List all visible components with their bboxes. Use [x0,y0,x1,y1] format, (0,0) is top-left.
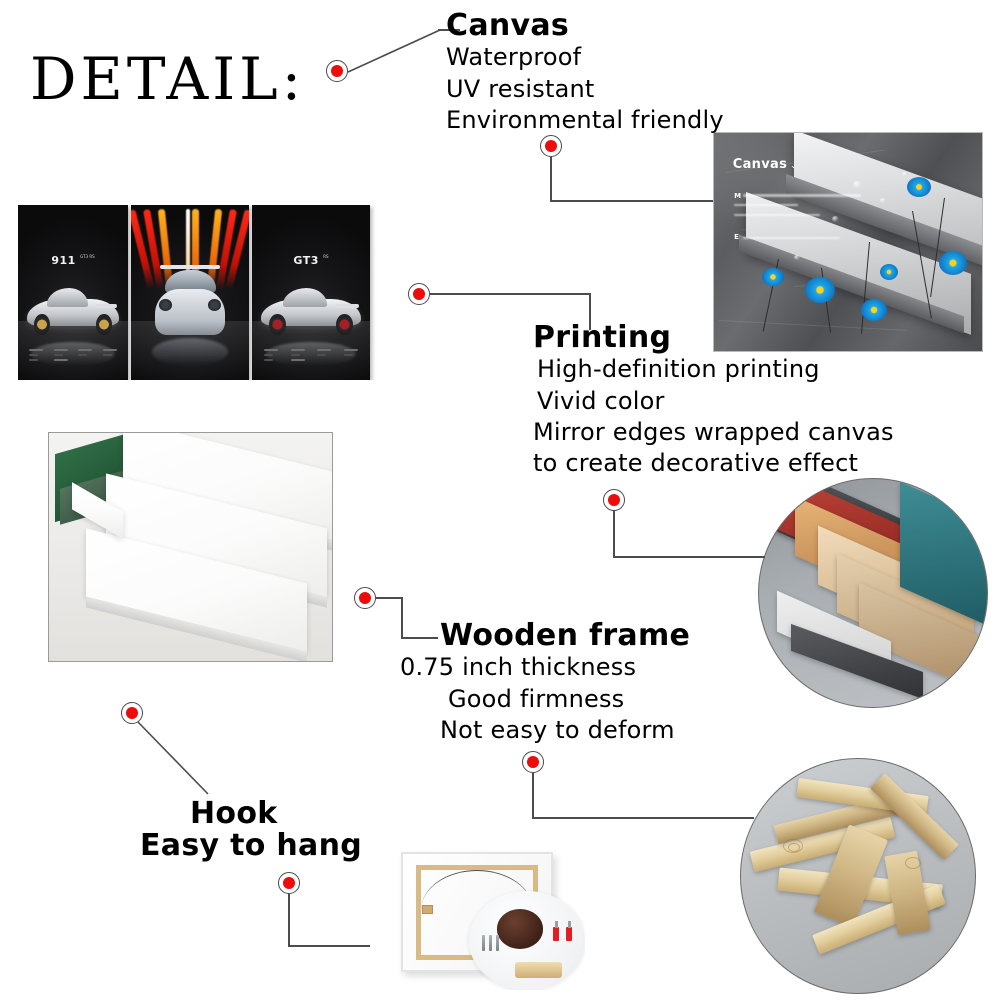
callout-printing-line-2: Vivid color [533,386,894,417]
callout-canvas-line-1: Waterproof [446,42,724,73]
connector-frame-horizontal-1 [376,597,402,599]
callout-canvas-heading: Canvas [446,10,724,42]
hardware-inset-circle [469,891,585,990]
infographic-canvas: DETAIL: 911 GT3 RS [0,0,1000,1000]
callout-printing-line-4: to create decorative effect [533,448,894,479]
connector-frame-photo-horizontal [532,817,754,819]
callout-canvas-line-3: Environmental friendly [446,105,724,136]
marker-dot-frame-photo[interactable] [522,751,544,773]
callout-wooden-frame-heading: Wooden frame [396,620,690,652]
hook-hardware-photo [385,845,585,990]
poster-panel-2 [131,205,249,380]
connector-edges-horizontal [613,556,765,558]
callout-printing: Printing High-definition printing Vivid … [533,322,894,479]
blank-canvas-stack-photo [48,432,333,662]
connector-canvas-photo-vertical [550,157,552,201]
connector-edges-vertical [613,511,615,558]
marker-dot-canvas[interactable] [326,60,348,82]
callout-printing-heading: Printing [533,322,894,354]
wooden-stretcher-bars-circle-photo [740,758,976,994]
callout-canvas-line-2: UV resistant [446,74,724,105]
canvas-overlay-title: Canvas⌄ [733,157,797,172]
connector-hook-photo-horizontal [288,945,370,947]
callout-wooden-frame: Wooden frame 0.75 inch thickness Good fi… [396,620,690,746]
connector-canvas-diagonal [348,28,458,74]
page-title: DETAIL: [30,50,305,108]
poster-label-3: GT3 RS [252,254,370,267]
callout-wooden-frame-line-1: 0.75 inch thickness [396,652,690,683]
callout-printing-line-1: High-definition printing [533,354,894,385]
marker-dot-wooden-frame[interactable] [354,587,376,609]
callout-hook-heading: Hook [140,798,362,830]
callout-wooden-frame-line-2: Good firmness [396,684,690,715]
canvas-overlay-caption-2: E [734,233,739,241]
car-poster-triptych-photo: 911 GT3 RS [18,205,403,380]
canvas-flower-photo: Canvas⌄ M E [713,132,983,352]
connector-hook-photo-vertical [288,894,290,947]
chevron-down-icon: ⌄ [790,161,797,170]
poster-panel-3: GT3 RS [252,205,370,380]
connector-canvas-photo-horizontal [550,200,713,202]
callout-printing-line-3: Mirror edges wrapped canvas [533,417,894,448]
callout-canvas: Canvas Waterproof UV resistant Environme… [446,10,724,136]
marker-dot-edges-photo[interactable] [603,489,625,511]
callout-wooden-frame-line-3: Not easy to deform [396,715,690,746]
callout-hook-line-1: Easy to hang [140,830,362,862]
poster-label-1: 911 GT3 RS [18,254,128,267]
connector-hook-diagonal [138,722,220,804]
callout-hook: Hook Easy to hang [140,798,362,863]
canvas-overlay-caption-1: M [734,192,741,200]
marker-dot-hook[interactable] [121,702,143,724]
wrapped-edges-circle-photo [758,478,988,708]
marker-dot-hook-photo[interactable] [278,872,300,894]
poster-panel-1: 911 GT3 RS [18,205,128,380]
marker-dot-canvas-photo[interactable] [540,135,562,157]
connector-frame-photo-vertical [532,773,534,819]
marker-dot-printing[interactable] [408,283,430,305]
connector-printing-horizontal [430,293,590,295]
